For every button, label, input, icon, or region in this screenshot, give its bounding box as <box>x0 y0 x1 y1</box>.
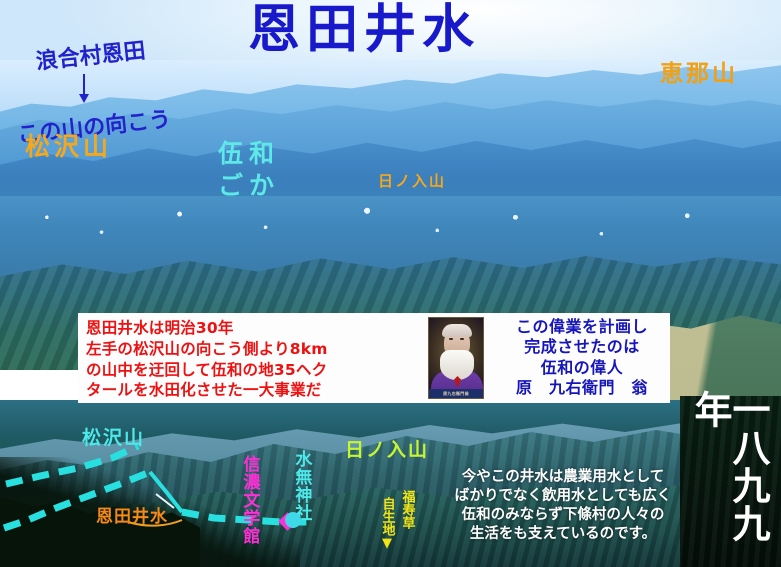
portrait-beard <box>440 350 474 380</box>
down-arrow-icon <box>83 74 85 100</box>
portrait-hair <box>442 324 472 337</box>
annotation-namiai-onda: 浪合村恩田 この山の向こう <box>4 0 177 195</box>
label-matsuzawayama-lower: 松沢山 <box>82 428 145 449</box>
annotation-line-1: 浪合村恩田 <box>35 37 165 74</box>
portrait-eye-right <box>460 338 464 340</box>
label-shinano-bungakukan: 信濃文学館 <box>240 455 257 545</box>
year-label: 一八九九年 <box>691 390 767 567</box>
label-hinoiriyama-upper: 日ノ入山 <box>378 173 446 189</box>
label-goka-kanji: 伍和 <box>218 140 280 167</box>
closing-paragraph: 今やこの井水は農業用水として ばかりでなく飲用水としても広く 伍和のみならず下條… <box>447 468 679 545</box>
panel-blue-description: この偉業を計画し 完成させたのは 伍和の偉人 原 九右衛門 翁 <box>496 317 668 399</box>
label-ondaisui: 恩田井水 <box>96 508 168 526</box>
portrait-eye-left <box>449 338 453 340</box>
info-panel: 恩田井水は明治30年 左手の松沢山の向こう側より8km の山中を迂回して伍和の地… <box>78 313 670 403</box>
poster-root: 恩田井水 浪合村恩田 この山の向こう 恵那山 松沢山 伍和 ごか 日ノ入山 恩田… <box>0 0 781 567</box>
label-matsuzawayama-upper: 松沢山 <box>25 133 112 160</box>
label-enasan: 恵那山 <box>660 62 738 87</box>
label-fukujuso: 福寿草 <box>400 490 414 529</box>
label-goka-kana: ごか <box>218 172 280 199</box>
circle-marker-icon <box>285 512 301 528</box>
panel-red-description: 恩田井水は明治30年 左手の松沢山の向こう側より8km の山中を迂回して伍和の地… <box>86 318 328 401</box>
portrait-hara-kuemon: 原九右衛門翁 <box>428 317 484 399</box>
label-hinoiriyama-lower: 日ノ入山 <box>345 440 429 461</box>
page-title: 恩田井水 <box>248 2 480 58</box>
portrait-caption: 原九右衛門翁 <box>429 389 483 398</box>
label-jiseichi: 自生地▼ <box>380 497 394 551</box>
